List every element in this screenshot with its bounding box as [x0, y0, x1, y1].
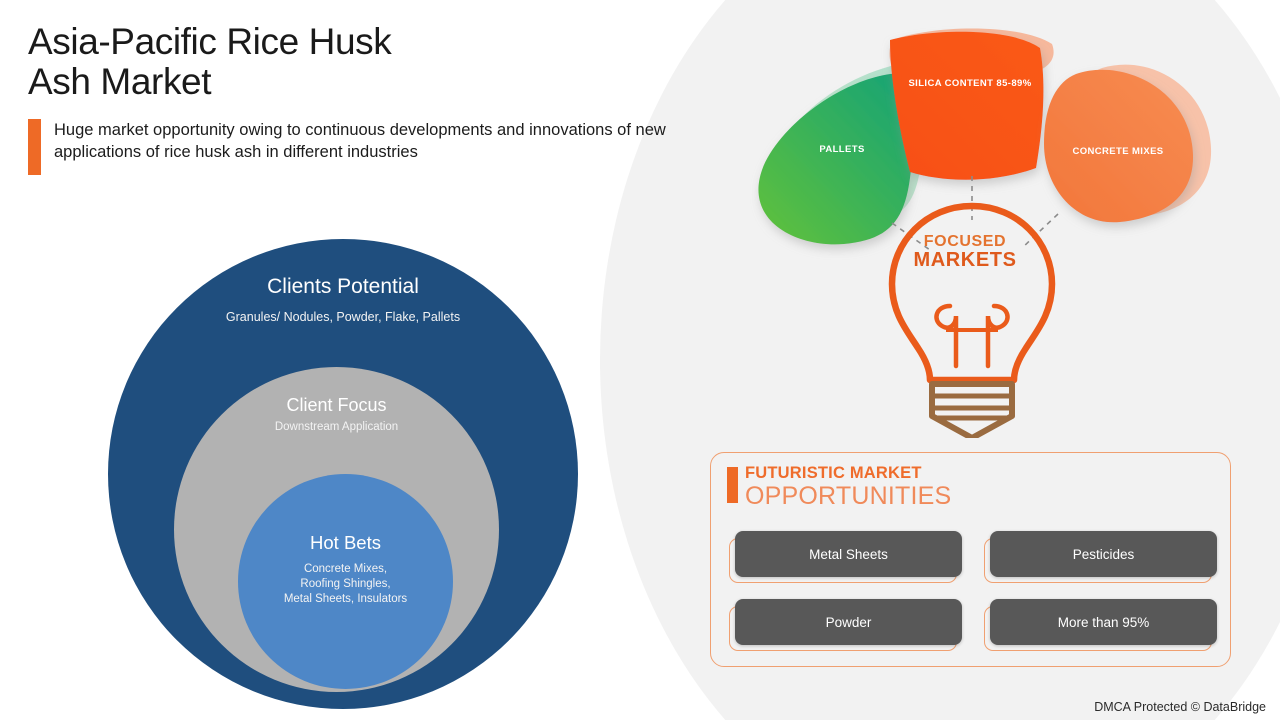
bulb-text-line2: MARKETS [895, 249, 1035, 272]
card-wrap-more-than-95: More than 95% [984, 599, 1217, 651]
panel-title-line2: OPPORTUNITIES [745, 483, 951, 509]
circle-outer-sub: Granules/ Nodules, Powder, Flake, Pallet… [108, 310, 578, 324]
page-subtitle: Huge market opportunity owing to continu… [54, 119, 674, 175]
page-title: Asia-Pacific Rice Husk Ash Market [28, 22, 688, 103]
card-wrap-powder: Powder [729, 599, 962, 651]
circle-middle-heading: Client Focus [174, 395, 499, 416]
opportunity-card[interactable]: More than 95% [990, 599, 1217, 645]
circle-outer-heading: Clients Potential [108, 275, 578, 299]
panel-title-group: FUTURISTIC MARKET OPPORTUNITIES [745, 465, 951, 509]
panel-header: FUTURISTIC MARKET OPPORTUNITIES [711, 453, 1230, 509]
opportunity-cards-grid: Metal Sheets Pesticides Powder More than… [729, 531, 1217, 651]
bulb-text-block: FOCUSED MARKETS [895, 233, 1035, 272]
panel-title-line1: FUTURISTIC MARKET [745, 465, 951, 482]
blob-label-concrete: CONCRETE MIXES [1052, 146, 1184, 157]
header-block: Asia-Pacific Rice Husk Ash Market Huge m… [28, 22, 688, 175]
blob-label-pallets: PALLETS [792, 144, 892, 155]
panel-accent-bar-icon [727, 467, 738, 503]
card-wrap-pesticides: Pesticides [984, 531, 1217, 583]
subtitle-block: Huge market opportunity owing to continu… [28, 119, 688, 175]
focused-markets-cluster: PALLETS SILICA CONTENT 85-89% CONCRETE M… [740, 18, 1240, 438]
circle-middle-sub: Downstream Application [174, 421, 499, 433]
opportunity-card[interactable]: Powder [735, 599, 962, 645]
footer-copyright: DMCA Protected © DataBridge [1094, 700, 1266, 714]
opportunity-card[interactable]: Pesticides [990, 531, 1217, 577]
accent-bar-icon [28, 119, 41, 175]
concentric-circles-diagram: Clients Potential Granules/ Nodules, Pow… [108, 239, 578, 709]
opportunity-card[interactable]: Metal Sheets [735, 531, 962, 577]
card-wrap-metal-sheets: Metal Sheets [729, 531, 962, 583]
circle-hot-bets[interactable]: Hot Bets Concrete Mixes, Roofing Shingle… [238, 474, 453, 689]
circle-inner-sub: Concrete Mixes, Roofing Shingles, Metal … [238, 562, 453, 608]
blob-label-silica: SILICA CONTENT 85-89% [890, 78, 1050, 89]
circle-inner-heading: Hot Bets [238, 532, 453, 554]
silica-blob[interactable] [890, 32, 1043, 180]
futuristic-opportunities-panel: FUTURISTIC MARKET OPPORTUNITIES Metal Sh… [710, 452, 1231, 667]
slide-canvas: Asia-Pacific Rice Husk Ash Market Huge m… [0, 0, 1280, 720]
